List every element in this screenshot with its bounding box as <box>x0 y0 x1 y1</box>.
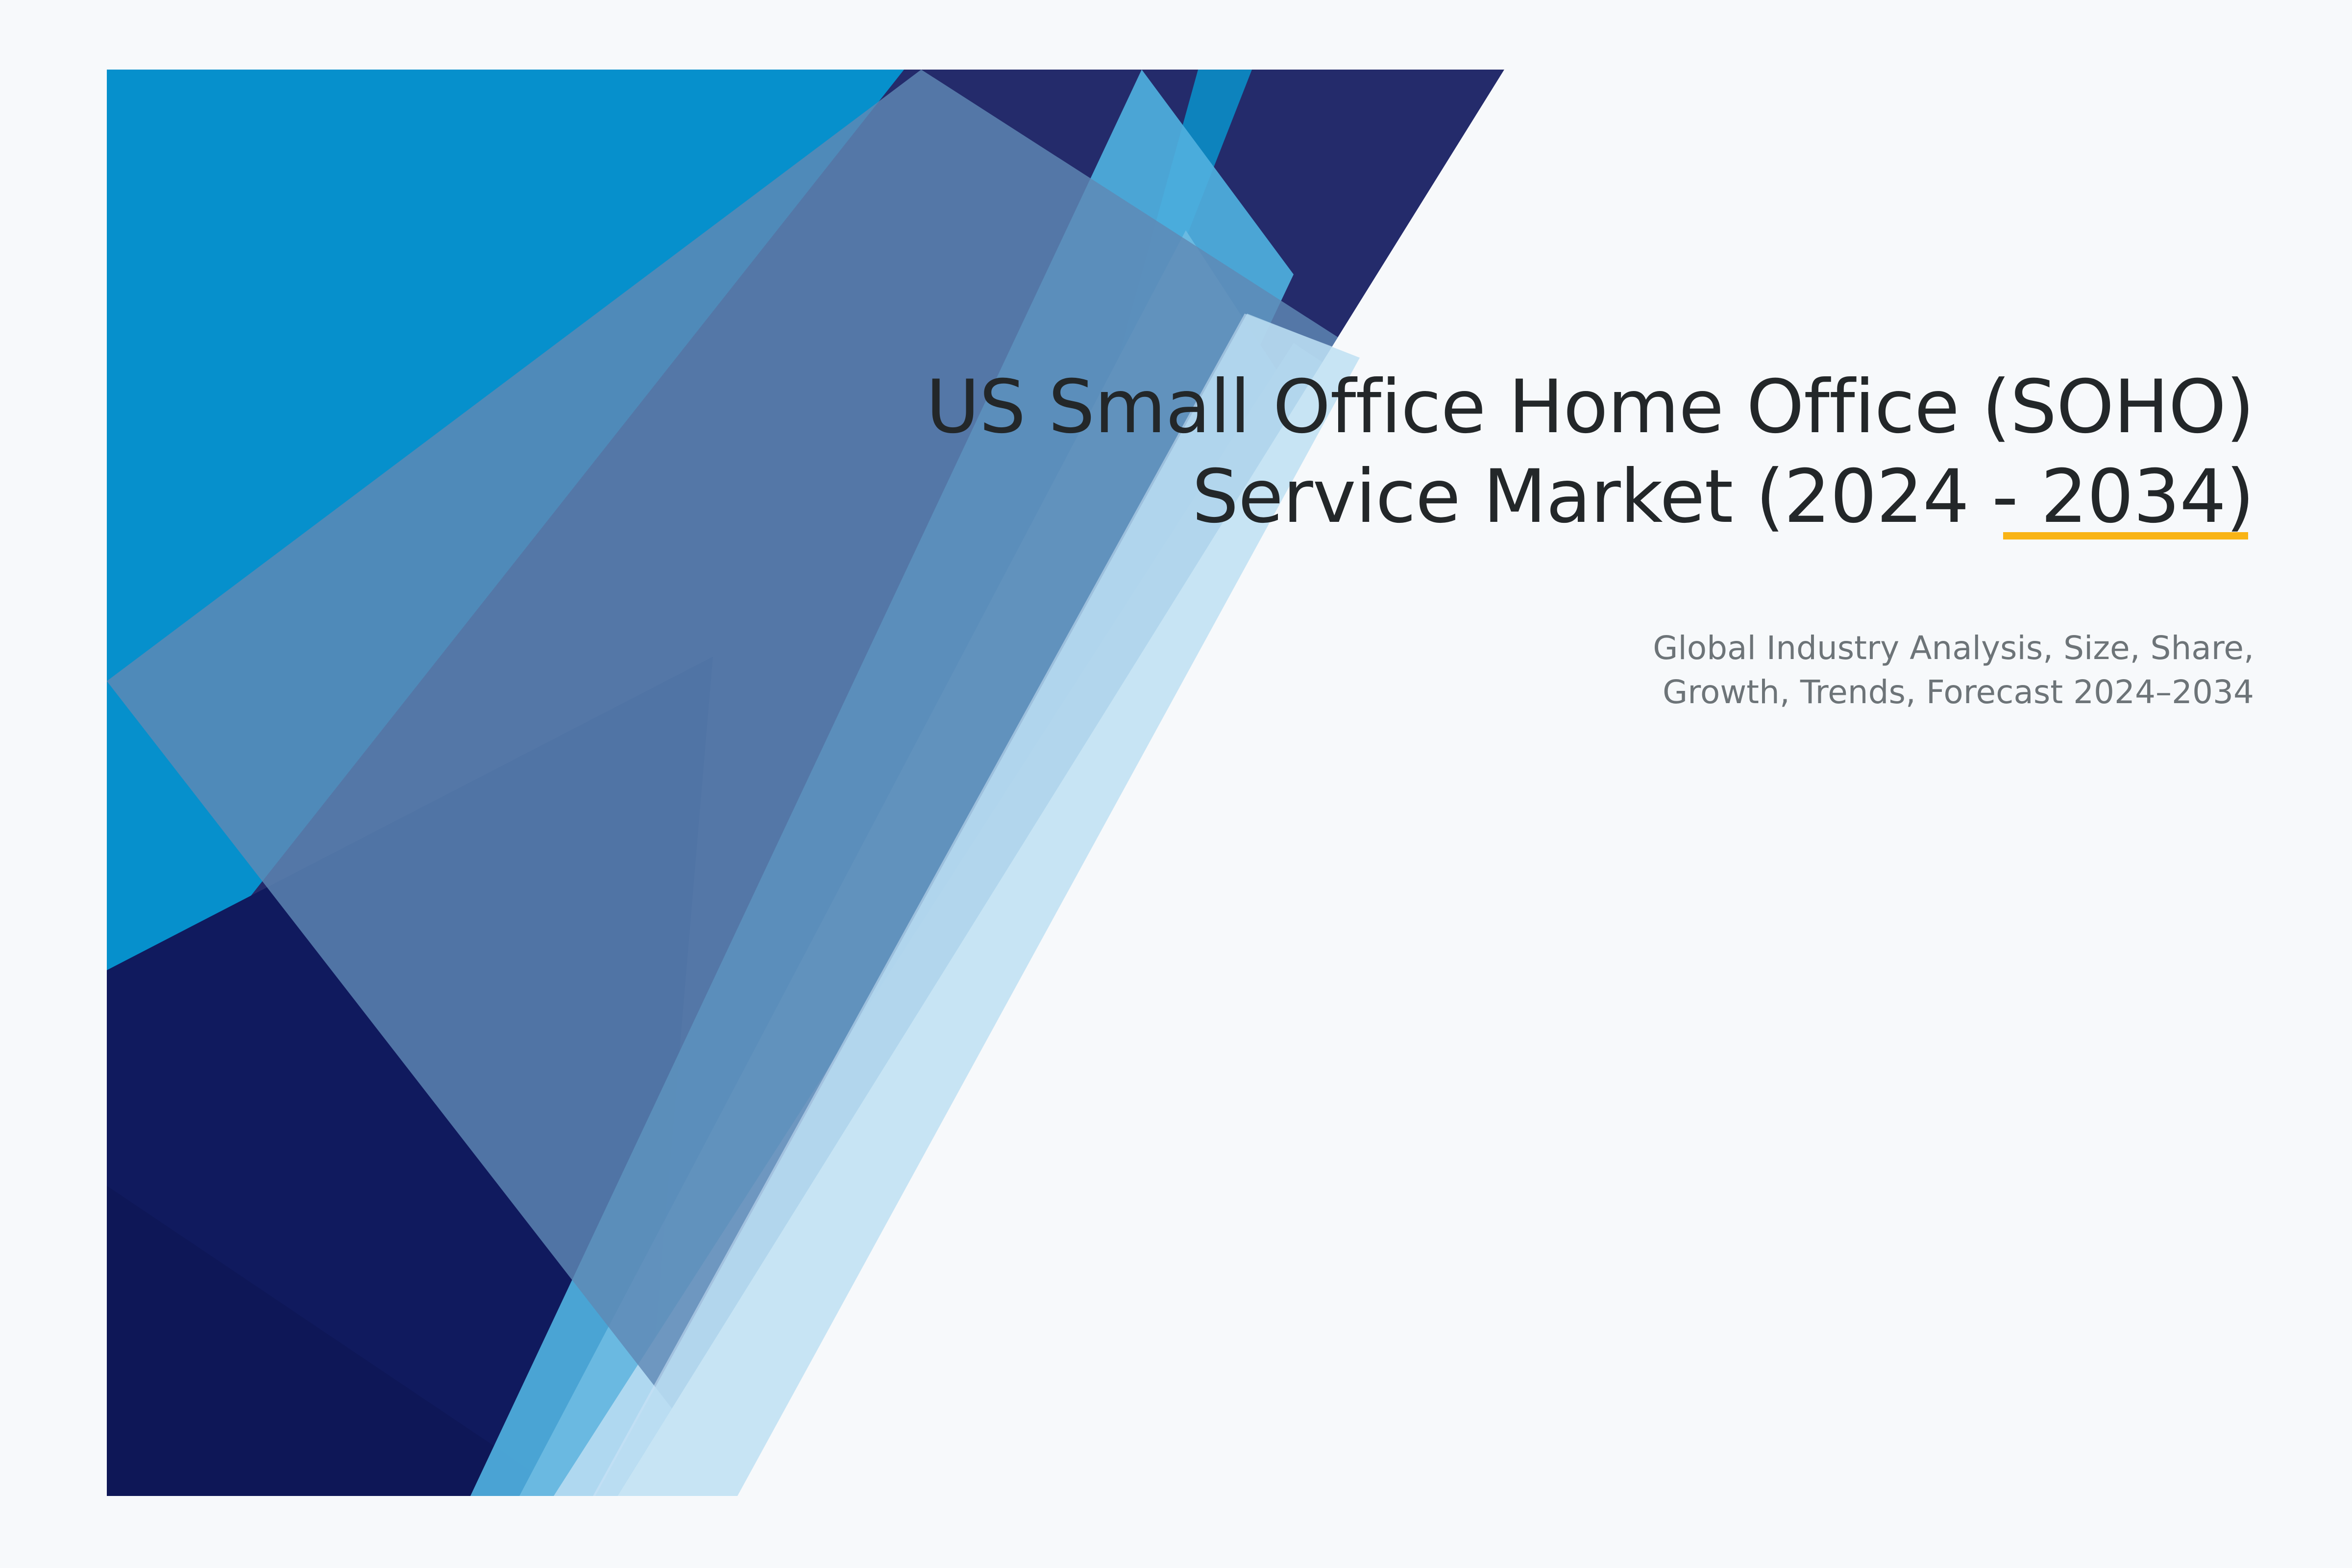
abstract-polygon-cover-graphic <box>0 0 2352 1568</box>
cover-text-block: US Small Office Home Office (SOHO) Servi… <box>735 363 2254 714</box>
page-subtitle: Global Industry Analysis, Size, Share, G… <box>735 542 2254 714</box>
report-cover-page: US Small Office Home Office (SOHO) Servi… <box>0 0 2352 1568</box>
page-title: US Small Office Home Office (SOHO) Servi… <box>735 363 2254 542</box>
